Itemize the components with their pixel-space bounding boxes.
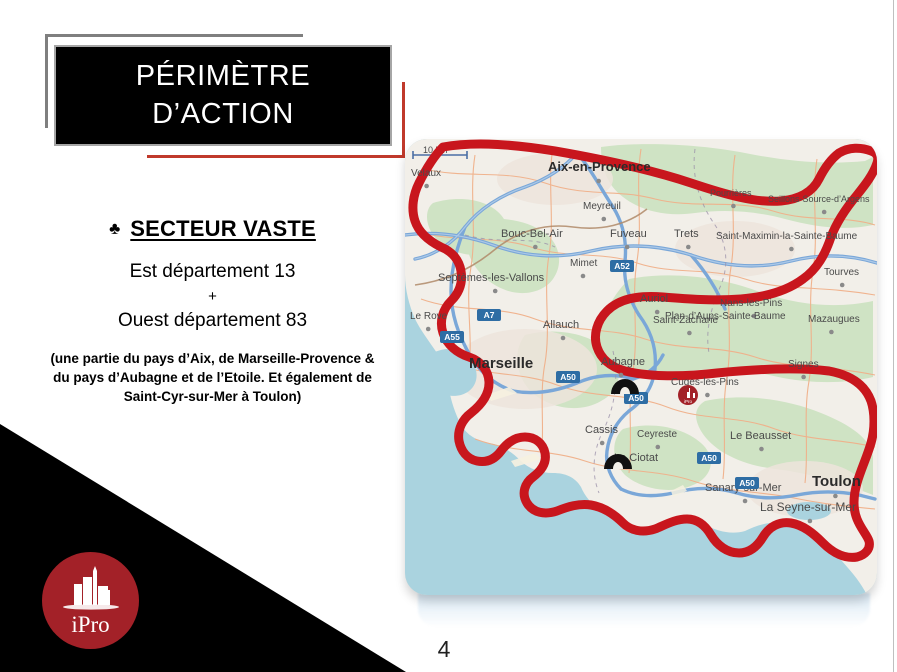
region-line-2: Ouest département 83 (20, 307, 405, 336)
map-city-label: Aubagne (601, 356, 645, 368)
motorway-shield: A50 (735, 477, 759, 489)
region-note-line-3: Saint-Cyr-sur-Mer à Toulon) (20, 387, 405, 406)
section-heading: SECTEUR VASTE (130, 216, 316, 242)
map-reflection (418, 593, 870, 627)
map-city-label: Marseille (469, 355, 533, 372)
map-image[interactable]: 10 km Aix-en-ProvenceVelauxMeyreuilBouc-… (405, 139, 877, 595)
map-city-label: Auriol (640, 293, 668, 305)
svg-text:iPro: iPro (684, 399, 692, 404)
map-city-label: Trets (674, 228, 699, 240)
motorway-shield: A50 (697, 452, 721, 464)
section-heading-row: ♣ SECTEUR VASTE (20, 216, 405, 242)
map-city-label: Toulon (812, 473, 861, 490)
map-city-dot (731, 204, 736, 209)
map-city-dot (424, 184, 429, 189)
map-city-label: Seillons-Source-d’Argens (768, 194, 870, 204)
map-city-dot (840, 283, 845, 288)
map-city-label: Cuges-les-Pins (671, 377, 739, 388)
map-city-dot (600, 441, 605, 446)
motorway-shield-label: A50 (628, 393, 644, 403)
map-city-dot (759, 447, 764, 452)
slide-right-edge-rule (893, 0, 894, 672)
title-block: PÉRIMÈTRE D’ACTION (45, 34, 405, 158)
map-city-label: Allauch (543, 319, 579, 331)
page-number: 4 (424, 636, 464, 663)
map-city-dot (581, 274, 586, 279)
map-city-label: Mazaugues (808, 314, 860, 325)
map-city-label: Signes (788, 359, 819, 370)
title-box: PÉRIMÈTRE D’ACTION (54, 45, 392, 146)
ipro-logo: iPro (42, 552, 139, 649)
map-city-dot (656, 445, 661, 450)
map-city-label: Nans-les-Pins (720, 298, 782, 309)
map-city-dot (829, 330, 834, 335)
slide: PÉRIMÈTRE D’ACTION ♣ SECTEUR VASTE Est d… (0, 0, 897, 672)
map-city-dot (533, 245, 538, 250)
motorway-shield: A7 (477, 309, 501, 321)
map-city-dot (705, 393, 710, 398)
map-city-label: Le Beausset (730, 430, 791, 442)
map-city-label: Meyreuil (583, 201, 621, 212)
map-city-dot (619, 373, 624, 378)
map-city-label: Tourves (824, 267, 859, 278)
map-city-dot (602, 217, 607, 222)
map-city-dot (596, 179, 601, 184)
map-city-dot (687, 331, 692, 336)
motorway-shield-label: A7 (484, 310, 495, 320)
map-city-dot (789, 247, 794, 252)
region-note-line-1: (une partie du pays d’Aix, de Marseille-… (20, 349, 405, 368)
region-line-1: Est département 13 (20, 258, 405, 287)
map-canvas: 10 km Aix-en-ProvenceVelauxMeyreuilBouc-… (405, 139, 877, 595)
map-city-label: La Seyne-sur-Mer (760, 500, 856, 514)
map-city-dot (686, 245, 691, 250)
map-city-dot (426, 327, 431, 332)
map-city-label: Cassis (585, 424, 619, 436)
region-note: (une partie du pays d’Aix, de Marseille-… (20, 349, 405, 406)
page-title-line-2: D’ACTION (152, 96, 294, 133)
map-city-label: Pourrières (710, 188, 752, 198)
region-note-line-2: du pays d’Aubagne et de l’Etoile. Et éga… (20, 368, 405, 387)
bullet-icon: ♣ (109, 220, 120, 237)
map-city-label: Plan-d’Aups-Sainte-Baume (665, 311, 786, 322)
map-city-label: Saint-Maximin-la-Sainte-Baume (716, 231, 858, 242)
map-city-dot (561, 336, 566, 341)
map-city-dot (655, 310, 660, 315)
map-city-dot (808, 519, 813, 524)
map-city-dot (801, 375, 806, 380)
ipro-marker[interactable]: iPro (678, 385, 698, 405)
region-plus-sign: + (20, 288, 405, 306)
map-city-dot (822, 210, 827, 215)
skyscraper-icon (60, 566, 122, 612)
page-title-line-1: PÉRIMÈTRE (136, 58, 311, 95)
map-city-label: Velaux (411, 168, 441, 179)
motorway-shield-label: A50 (560, 372, 576, 382)
map-city-label: Mimet (570, 258, 597, 269)
motorway-shield: A52 (610, 260, 634, 272)
map-city-dot (833, 494, 838, 499)
motorway-shield-label: A50 (739, 478, 755, 488)
map-city-label: Bouc-Bel-Air (501, 228, 563, 240)
map-city-label: Le Rove (410, 311, 448, 322)
map-city-dot (625, 245, 630, 250)
map-city-label: Fuveau (610, 228, 647, 240)
map-city-label: Aix-en-Provence (548, 159, 651, 174)
map-city-label: Ceyreste (637, 429, 677, 440)
ipro-logo-text: iPro (71, 613, 109, 636)
motorway-shield-label: A55 (444, 332, 460, 342)
map-city-label: Septèmes-les-Vallons (438, 272, 545, 284)
map-city-dot (493, 289, 498, 294)
motorway-shield: A55 (440, 331, 464, 343)
map-city-dot (743, 499, 748, 504)
motorway-shield-label: A50 (701, 453, 717, 463)
body-text-column: ♣ SECTEUR VASTE Est département 13 + Oue… (20, 216, 405, 406)
motorway-shield-label: A52 (614, 261, 630, 271)
motorway-shield: A50 (556, 371, 580, 383)
